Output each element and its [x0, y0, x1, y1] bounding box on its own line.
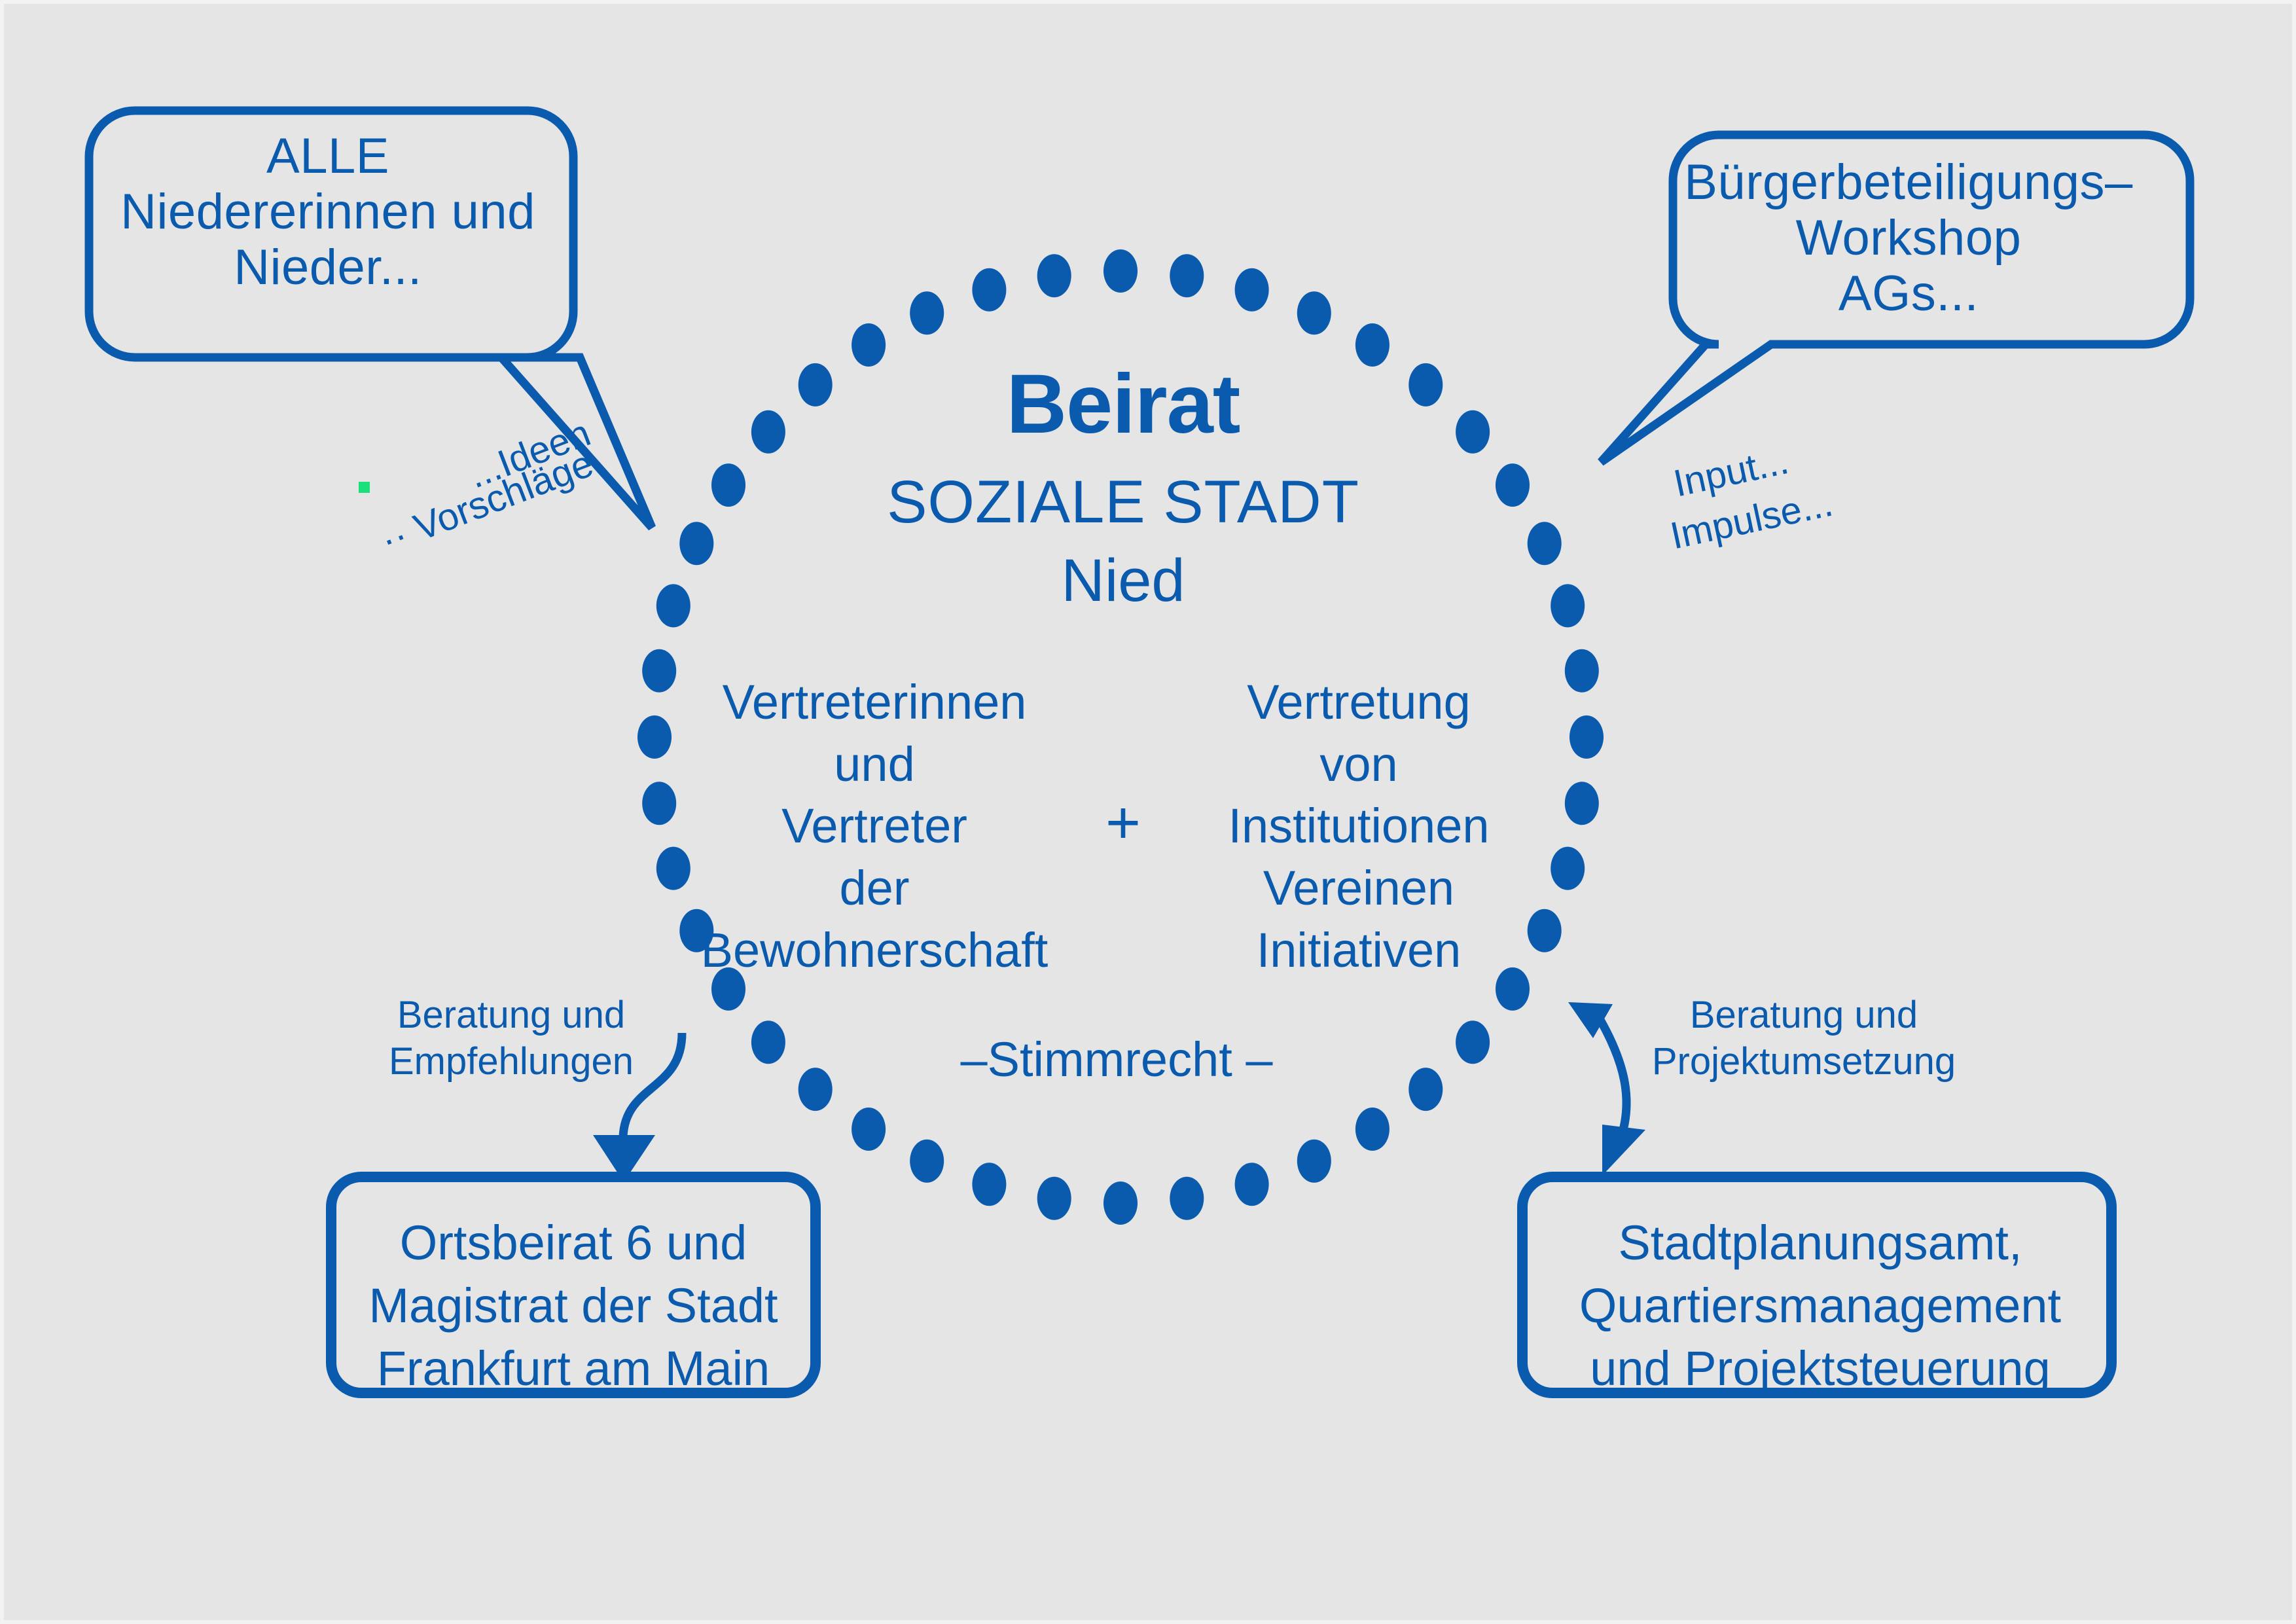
- ring-dot: [656, 584, 691, 627]
- ring-dot: [1235, 1163, 1269, 1206]
- column-right-line-0: Vertretung: [1175, 672, 1542, 734]
- center-column-right: VertretungvonInstitutionenVereinenInitia…: [1175, 672, 1542, 982]
- ring-dot: [1170, 254, 1204, 297]
- ring-dot: [1565, 649, 1599, 693]
- ring-dot: [1551, 847, 1585, 890]
- ring-dot: [711, 463, 745, 507]
- stimmrecht-note: –Stimmrecht –: [907, 1033, 1326, 1087]
- bubble-top-right-line-0: Bürgerbeteiligungs–: [1679, 154, 2138, 210]
- ring-dot: [1565, 782, 1599, 825]
- column-left-line-2: Vertreter: [685, 795, 1064, 857]
- box-bottom-left-label: Ortsbeirat 6 undMagistrat der StadtFrank…: [344, 1212, 802, 1401]
- ring-dot: [1103, 1182, 1138, 1225]
- ring-dot: [1551, 584, 1585, 627]
- center-title: Beirat: [776, 357, 1470, 451]
- bubble-top-left-line-1: Niedererinnen und: [102, 184, 554, 240]
- column-right-line-3: Vereinen: [1175, 857, 1542, 920]
- bubble-top-left-label: ALLENiedererinnen undNieder...: [102, 128, 554, 295]
- ring-dot: [1355, 1108, 1390, 1151]
- ring-dot: [1496, 463, 1530, 507]
- annotation-beratung-empfehlungen-line-1: Empfehlungen: [370, 1039, 652, 1085]
- bubble-top-right-line-2: AGs...: [1679, 266, 2138, 321]
- annotation-beratung-empfehlungen-line-0: Beratung und: [370, 992, 652, 1039]
- ring-dot: [1528, 522, 1562, 565]
- ring-dot: [637, 715, 672, 759]
- ring-dot: [910, 291, 944, 334]
- ring-dot: [679, 522, 713, 565]
- plus-operator: +: [1064, 789, 1182, 857]
- ring-dot: [852, 1108, 886, 1151]
- ring-dot: [1408, 1068, 1443, 1111]
- center-location: Nied: [776, 547, 1470, 615]
- arrow-beratung-projektumsetzung: [1568, 1002, 1645, 1176]
- column-left-line-3: der: [685, 857, 1064, 920]
- annotation-beratung-projektumsetzung-line-1: Projektumsetzung: [1647, 1039, 1961, 1085]
- ring-dot: [910, 1140, 944, 1183]
- ring-dot: [1037, 254, 1071, 297]
- column-left-line-0: Vertreterinnen: [685, 672, 1064, 734]
- ring-dot: [1235, 268, 1269, 312]
- ring-dot: [1297, 1140, 1331, 1183]
- center-subtitle: SOZIALE STADT: [776, 469, 1470, 536]
- box-bottom-left-line-2: Frankfurt am Main: [344, 1337, 802, 1400]
- ring-dot: [1570, 715, 1604, 759]
- diagram-canvas: ALLENiedererinnen undNieder... Bürgerbet…: [0, 0, 2296, 1624]
- column-left-line-4: Bewohnerschaft: [685, 920, 1064, 982]
- box-bottom-right-label: Stadtplanungsamt,Quartiersmanagementund …: [1535, 1212, 2105, 1401]
- column-right-line-4: Initiativen: [1175, 920, 1542, 982]
- box-bottom-right-line-0: Stadtplanungsamt,: [1535, 1212, 2105, 1274]
- column-left-line-1: und: [685, 734, 1064, 796]
- ring-dot: [1297, 291, 1331, 334]
- bubble-top-right-line-1: Workshop: [1679, 210, 2138, 266]
- box-bottom-right-line-1: Quartiersmanagement: [1535, 1274, 2105, 1337]
- ring-dot: [798, 1068, 833, 1111]
- column-right-line-2: Institutionen: [1175, 795, 1542, 857]
- ring-dot: [642, 649, 676, 693]
- annotation-beratung-empfehlungen: Beratung undEmpfehlungen: [370, 992, 652, 1085]
- box-bottom-left-line-0: Ortsbeirat 6 und: [344, 1212, 802, 1274]
- annotation-beratung-projektumsetzung-line-0: Beratung und: [1647, 992, 1961, 1039]
- ring-dot: [1456, 1020, 1490, 1064]
- bubble-top-left-line-2: Nieder...: [102, 240, 554, 295]
- box-bottom-right-line-2: und Projektsteuerung: [1535, 1337, 2105, 1400]
- ring-dot: [972, 1163, 1006, 1206]
- ring-dot: [642, 782, 676, 825]
- ring-dot: [1170, 1177, 1204, 1220]
- ring-dot: [972, 268, 1006, 312]
- ring-dot: [751, 1020, 785, 1064]
- ring-dot: [1037, 1177, 1071, 1220]
- green-marker-dot: [359, 482, 370, 493]
- bubble-top-right-label: Bürgerbeteiligungs–WorkshopAGs...: [1679, 154, 2138, 321]
- box-bottom-left-line-1: Magistrat der Stadt: [344, 1274, 802, 1337]
- ring-dot: [1103, 249, 1138, 293]
- annotation-beratung-projektumsetzung: Beratung undProjektumsetzung: [1647, 992, 1961, 1085]
- bubble-top-left-line-0: ALLE: [102, 128, 554, 184]
- center-column-left: VertreterinnenundVertreterderBewohnersch…: [685, 672, 1064, 982]
- column-right-line-1: von: [1175, 734, 1542, 796]
